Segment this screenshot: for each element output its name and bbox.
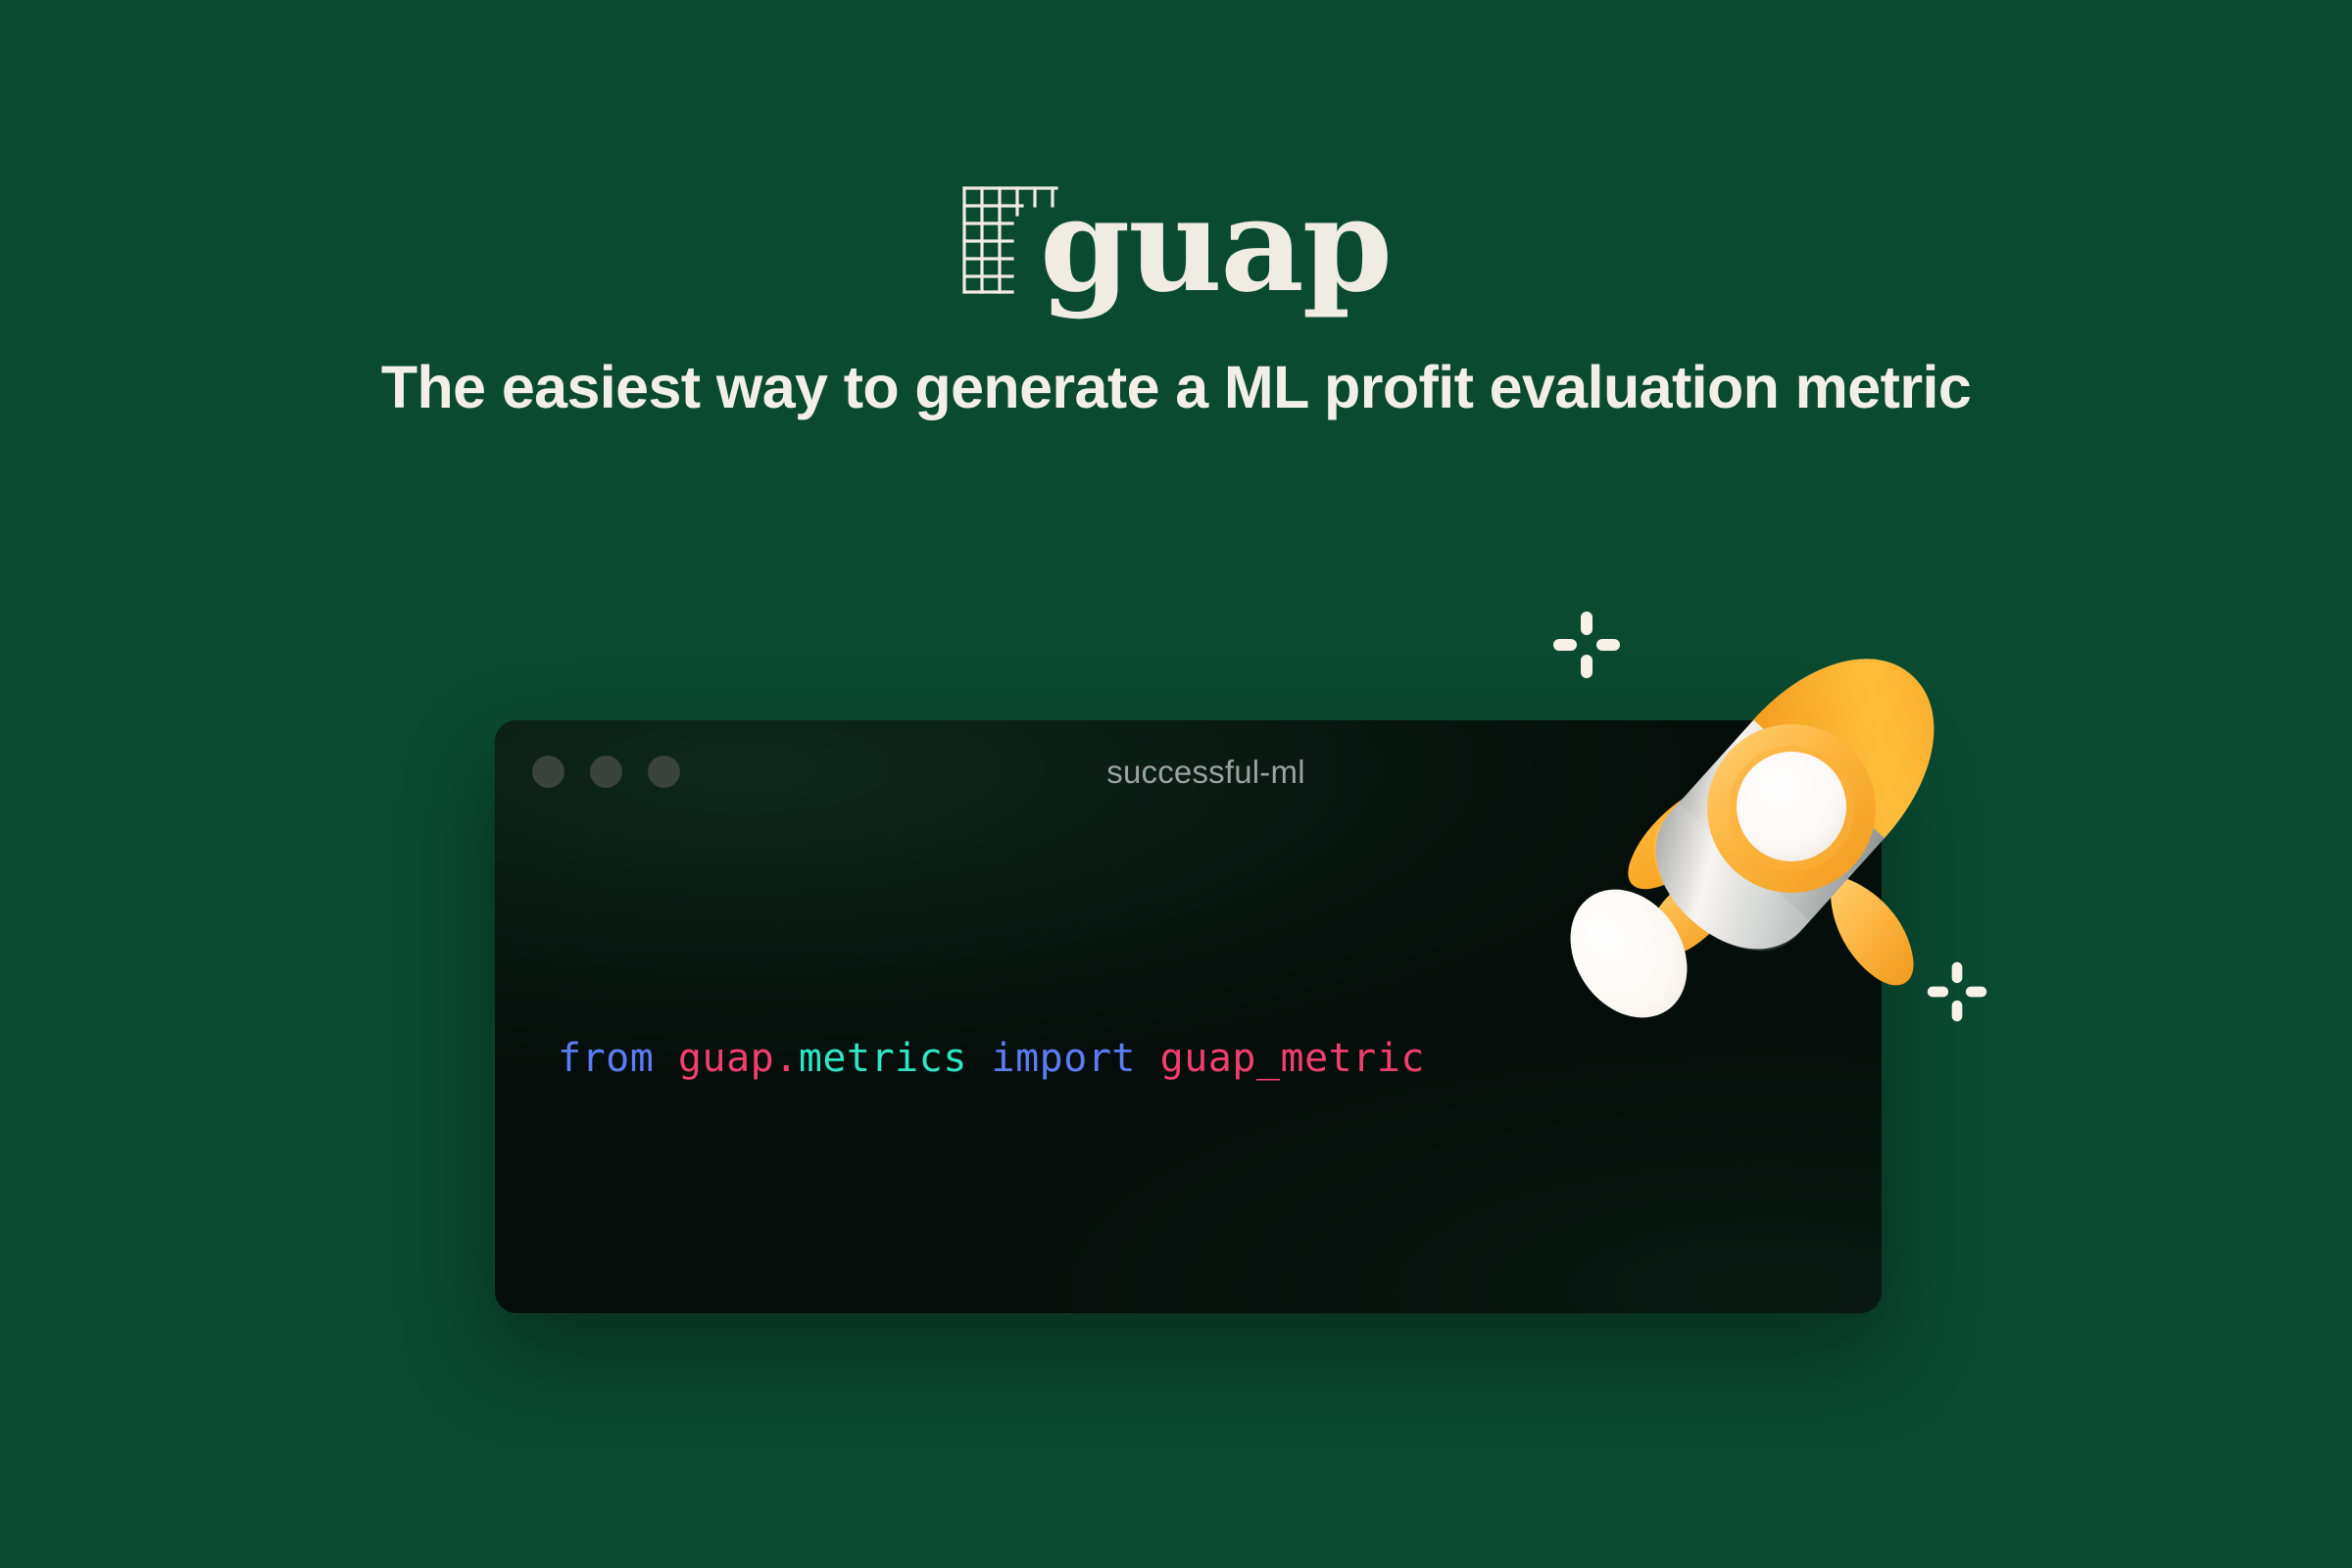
code-token: guap_metric [1160,1036,1425,1081]
close-button[interactable] [532,756,564,788]
code-token [1136,1036,1160,1081]
code-terminal-window: successful-ml from guap.metrics import g… [495,720,1882,1313]
code-token: guap [678,1036,774,1081]
code-token: from [558,1036,654,1081]
traffic-lights [532,756,680,788]
minimize-button[interactable] [590,756,622,788]
code-token: metrics [799,1036,967,1081]
terminal-titlebar: successful-ml [495,720,1882,823]
maximize-button[interactable] [648,756,680,788]
code-block[interactable]: from guap.metrics import guap_metric cos… [495,823,1882,1313]
terminal-title: successful-ml [495,720,1882,823]
code-token [654,1036,678,1081]
code-token: . [774,1036,799,1081]
code-token: import [992,1036,1137,1081]
brand-logo: guap [0,167,2352,309]
landing-page: guap The easiest way to generate a ML pr… [0,0,2352,1568]
sparkle-plus-icon [1551,610,1622,680]
code-blank-line [558,1215,1882,1235]
brand-wordmark: guap [1040,166,1391,311]
code-line-line-import: from guap.metrics import guap_metric [558,1027,1882,1090]
sparkle-plus-icon [1926,960,1988,1023]
page-tagline: The easiest way to generate a ML profit … [0,353,2352,421]
code-token [967,1036,992,1081]
